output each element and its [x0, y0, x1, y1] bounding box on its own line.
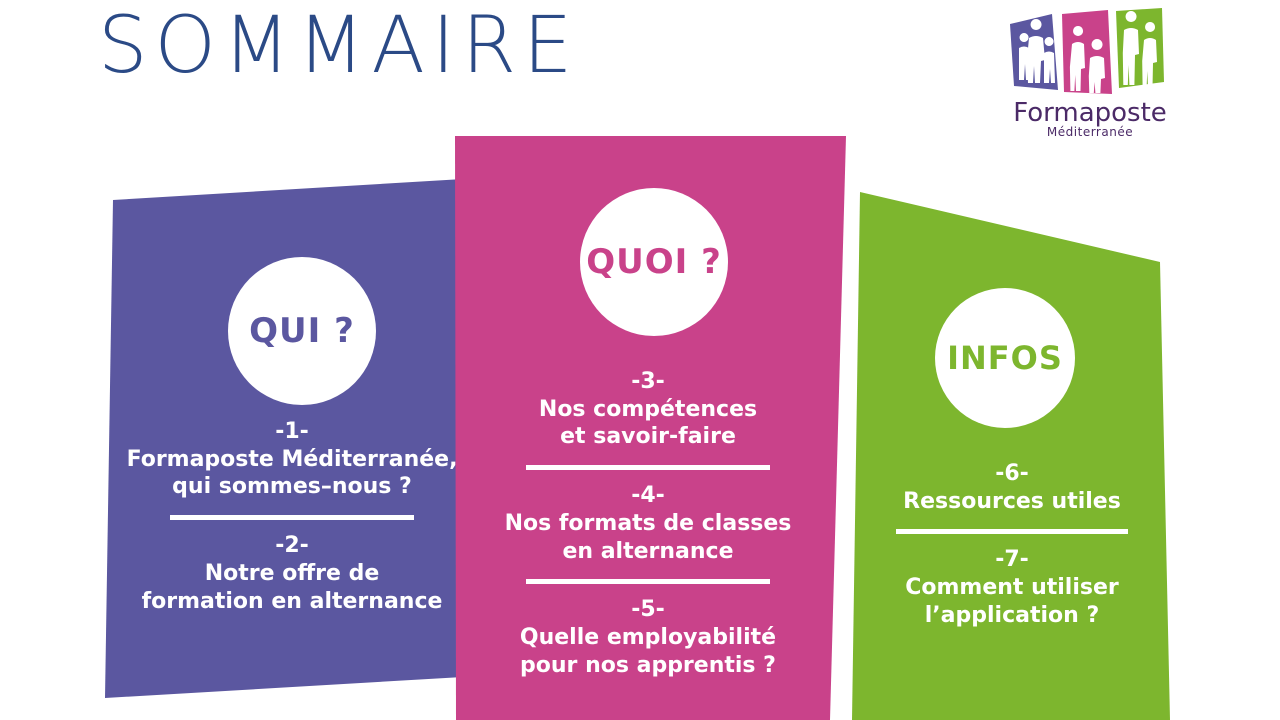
panel-infos[interactable]: INFOS -6- Ressources utiles -7- Comment …	[840, 180, 1185, 720]
list-item[interactable]: -4- Nos formats de classes en alternance	[462, 482, 834, 565]
panel-quoi[interactable]: QUOI ? -3- Nos compétences et savoir-fai…	[440, 128, 860, 720]
logo-subtitle: Méditerranée	[1004, 126, 1176, 138]
item-label: Nos compétences et savoir-faire	[462, 396, 834, 451]
badge-quoi: QUOI ?	[580, 188, 728, 336]
item-label: Comment utiliser l’application ?	[852, 574, 1172, 629]
badge-qui: QUI ?	[228, 257, 376, 405]
item-label: Notre offre de formation en alternance	[117, 560, 467, 615]
divider	[170, 515, 414, 520]
item-number: -7-	[852, 546, 1172, 574]
item-number: -4-	[462, 482, 834, 510]
badge-infos-label: INFOS	[947, 339, 1063, 377]
divider	[526, 579, 770, 584]
item-number: -1-	[117, 418, 467, 446]
list-item[interactable]: -3- Nos compétences et savoir-faire	[462, 368, 834, 451]
badge-quoi-label: QUOI ?	[586, 242, 722, 282]
logo-mark-icon	[1004, 8, 1176, 100]
badge-qui-label: QUI ?	[249, 311, 355, 351]
items-qui: -1- Formaposte Méditerranée, qui sommes–…	[117, 418, 467, 615]
list-item[interactable]: -1- Formaposte Méditerranée, qui sommes–…	[117, 418, 467, 501]
formaposte-logo: Formaposte Méditerranée	[1004, 8, 1176, 138]
items-quoi: -3- Nos compétences et savoir-faire -4- …	[462, 368, 834, 679]
item-number: -5-	[462, 596, 834, 624]
item-number: -2-	[117, 532, 467, 560]
divider	[896, 529, 1128, 534]
list-item[interactable]: -2- Notre offre de formation en alternan…	[117, 532, 467, 615]
list-item[interactable]: -7- Comment utiliser l’application ?	[852, 546, 1172, 629]
items-infos: -6- Ressources utiles -7- Comment utilis…	[852, 460, 1172, 630]
logo-wordmark: Formaposte	[1004, 100, 1176, 126]
page-title: SOMMAIRE	[98, 4, 579, 90]
list-item[interactable]: -5- Quelle employabilité pour nos appren…	[462, 596, 834, 679]
item-number: -3-	[462, 368, 834, 396]
slide-root: SOMMAIRE Fo	[0, 0, 1280, 720]
divider	[526, 465, 770, 470]
item-number: -6-	[852, 460, 1172, 488]
item-label: Nos formats de classes en alternance	[462, 510, 834, 565]
item-label: Formaposte Méditerranée, qui sommes–nous…	[117, 446, 467, 501]
list-item[interactable]: -6- Ressources utiles	[852, 460, 1172, 515]
panel-qui[interactable]: QUI ? -1- Formaposte Méditerranée, qui s…	[105, 178, 480, 698]
badge-infos: INFOS	[935, 288, 1075, 428]
item-label: Quelle employabilité pour nos apprentis …	[462, 624, 834, 679]
item-label: Ressources utiles	[852, 488, 1172, 516]
